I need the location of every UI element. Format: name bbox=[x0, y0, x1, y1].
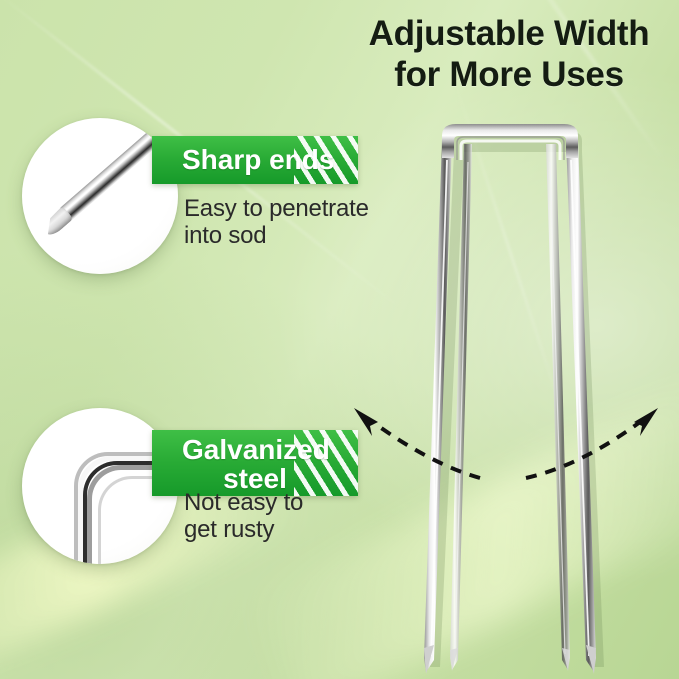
feature-banner-label-line-1: Galvanized bbox=[182, 434, 330, 465]
feature-banner-sharp-ends: Sharp ends bbox=[152, 136, 358, 184]
feature-caption-line-2: get rusty bbox=[184, 517, 414, 544]
feature-banner-label: Galvanized steel bbox=[182, 435, 328, 493]
headline-line-2: for More Uses bbox=[344, 55, 674, 96]
feature-caption-sharp-ends: Easy to penetrate into sod bbox=[184, 196, 414, 250]
feature-caption-line-2: into sod bbox=[184, 223, 414, 250]
feature-caption-line-1: Easy to penetrate bbox=[184, 195, 369, 222]
width-adjustment-arrows bbox=[330, 380, 679, 500]
feature-banner-galvanized-steel: Galvanized steel bbox=[152, 430, 358, 496]
feature-banner-label: Sharp ends bbox=[182, 145, 334, 174]
headline-line-1: Adjustable Width bbox=[369, 14, 650, 53]
width-adjust-arrow-right bbox=[526, 422, 640, 478]
feature-banner-label-line-2: steel bbox=[223, 463, 287, 494]
arrow-head-right-icon bbox=[634, 408, 658, 436]
product-feature-graphic: Adjustable Width for More Uses bbox=[0, 0, 679, 679]
width-adjust-arrow-left bbox=[370, 420, 480, 478]
feature-caption-galvanized-steel: Not easy to get rusty bbox=[184, 490, 414, 544]
page-title: Adjustable Width for More Uses bbox=[344, 14, 674, 95]
